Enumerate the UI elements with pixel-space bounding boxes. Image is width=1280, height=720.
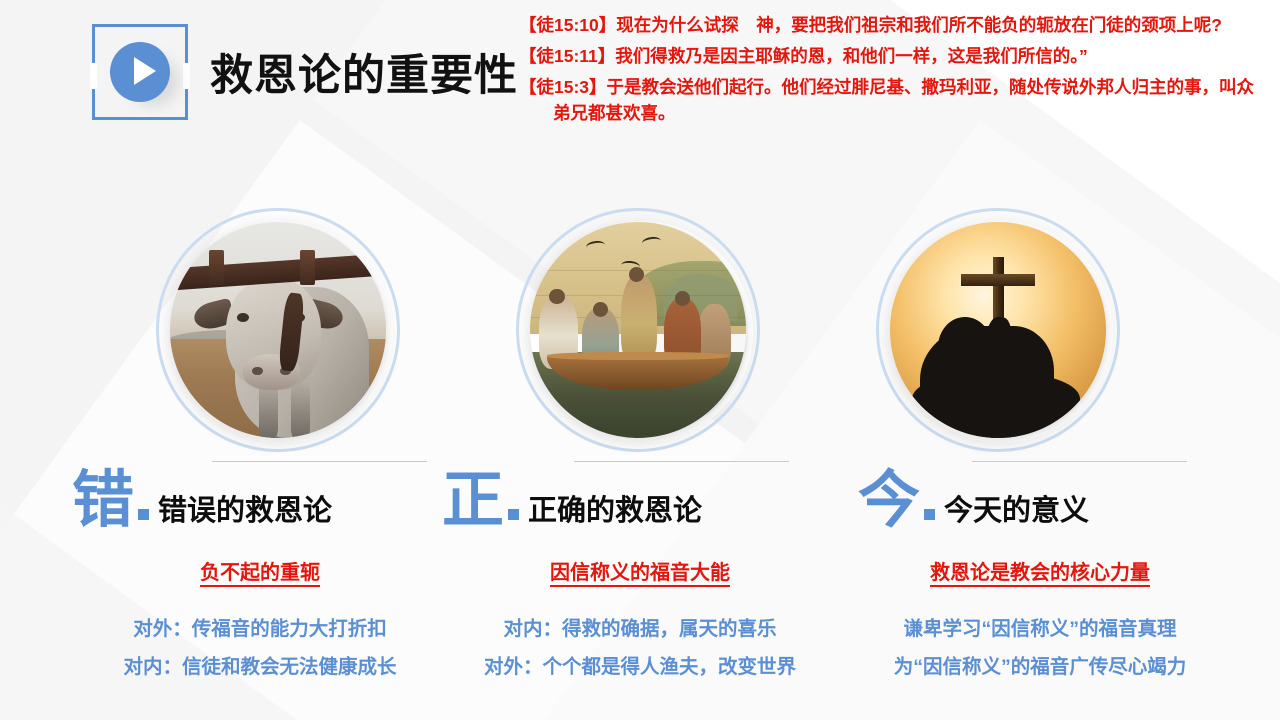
column-body-line: 谦卑学习“因信称义”的福音真理 — [840, 610, 1240, 648]
column-divider — [212, 461, 427, 462]
column-heading: 今 今天的意义 — [858, 470, 1089, 532]
page-title: 救恩论的重要性 — [210, 41, 518, 103]
photo-image — [890, 222, 1106, 438]
column-heading-label: 正确的救恩论 — [528, 494, 702, 532]
scripture-verse: 【徒15:3】于是教会送他们起行。他们经过腓尼基、撒玛利亚，随处传说外邦人归主的… — [519, 74, 1264, 126]
column-big-char: 今 — [858, 470, 920, 532]
fishermen-painting-photo — [530, 222, 746, 438]
column-subtitle: 救恩论是教会的核心力量 — [840, 556, 1240, 585]
column-body: 谦卑学习“因信称义”的福音真理 为“因信称义”的福音广传尽心竭力 — [840, 610, 1240, 686]
column-heading-label: 今天的意义 — [944, 494, 1089, 532]
column-body-line: 对内：信徒和教会无法健康成长 — [60, 648, 460, 686]
title-block: 救恩论的重要性 — [88, 20, 518, 124]
column-big-char: 正 — [442, 470, 504, 532]
column-subtitle: 因信称义的福音大能 — [440, 556, 840, 585]
column-heading: 正 正确的救恩论 — [442, 470, 702, 532]
column-divider — [574, 461, 789, 462]
column-subtitle: 负不起的重轭 — [60, 556, 460, 585]
column-body-line: 对外：传福音的能力大打折扣 — [60, 610, 460, 648]
column-heading: 错 错误的救恩论 — [72, 470, 332, 532]
photo-image — [530, 222, 746, 438]
square-bullet-icon — [508, 509, 519, 520]
photo-image — [170, 222, 386, 438]
square-bullet-icon — [138, 509, 149, 520]
slide-canvas: 救恩论的重要性 【徒15:10】现在为什么试探 神，要把我们祖宗和我们所不能负的… — [0, 0, 1280, 720]
icon-frame-gap — [90, 63, 97, 89]
column-big-char: 错 — [72, 470, 134, 532]
column-divider — [972, 461, 1187, 462]
scripture-list: 【徒15:10】现在为什么试探 神，要把我们祖宗和我们所不能负的轭放在门徒的颈项… — [519, 12, 1264, 131]
scripture-verse: 【徒15:11】我们得救乃是因主耶稣的恩，和他们一样，这是我们所信的。” — [519, 43, 1264, 69]
play-triangle — [134, 57, 156, 85]
square-bullet-icon — [924, 509, 935, 520]
column-body: 对内：得救的确据，属天的喜乐 对外：个个都是得人渔夫，改变世界 — [440, 610, 840, 686]
column-body-line: 为“因信称义”的福音广传尽心竭力 — [840, 648, 1240, 686]
column-body: 对外：传福音的能力大打折扣 对内：信徒和教会无法健康成长 — [60, 610, 460, 686]
cross-silhouette-photo — [890, 222, 1106, 438]
play-button-icon — [88, 20, 192, 124]
column-body-line: 对外：个个都是得人渔夫，改变世界 — [440, 648, 840, 686]
slide-header: 救恩论的重要性 【徒15:10】现在为什么试探 神，要把我们祖宗和我们所不能负的… — [0, 0, 1280, 175]
column-body-line: 对内：得救的确据，属天的喜乐 — [440, 610, 840, 648]
column-heading-label: 错误的救恩论 — [158, 494, 332, 532]
icon-frame-gap — [183, 63, 190, 89]
scripture-verse: 【徒15:10】现在为什么试探 神，要把我们祖宗和我们所不能负的轭放在门徒的颈项… — [519, 12, 1264, 38]
ox-with-yoke-photo — [170, 222, 386, 438]
